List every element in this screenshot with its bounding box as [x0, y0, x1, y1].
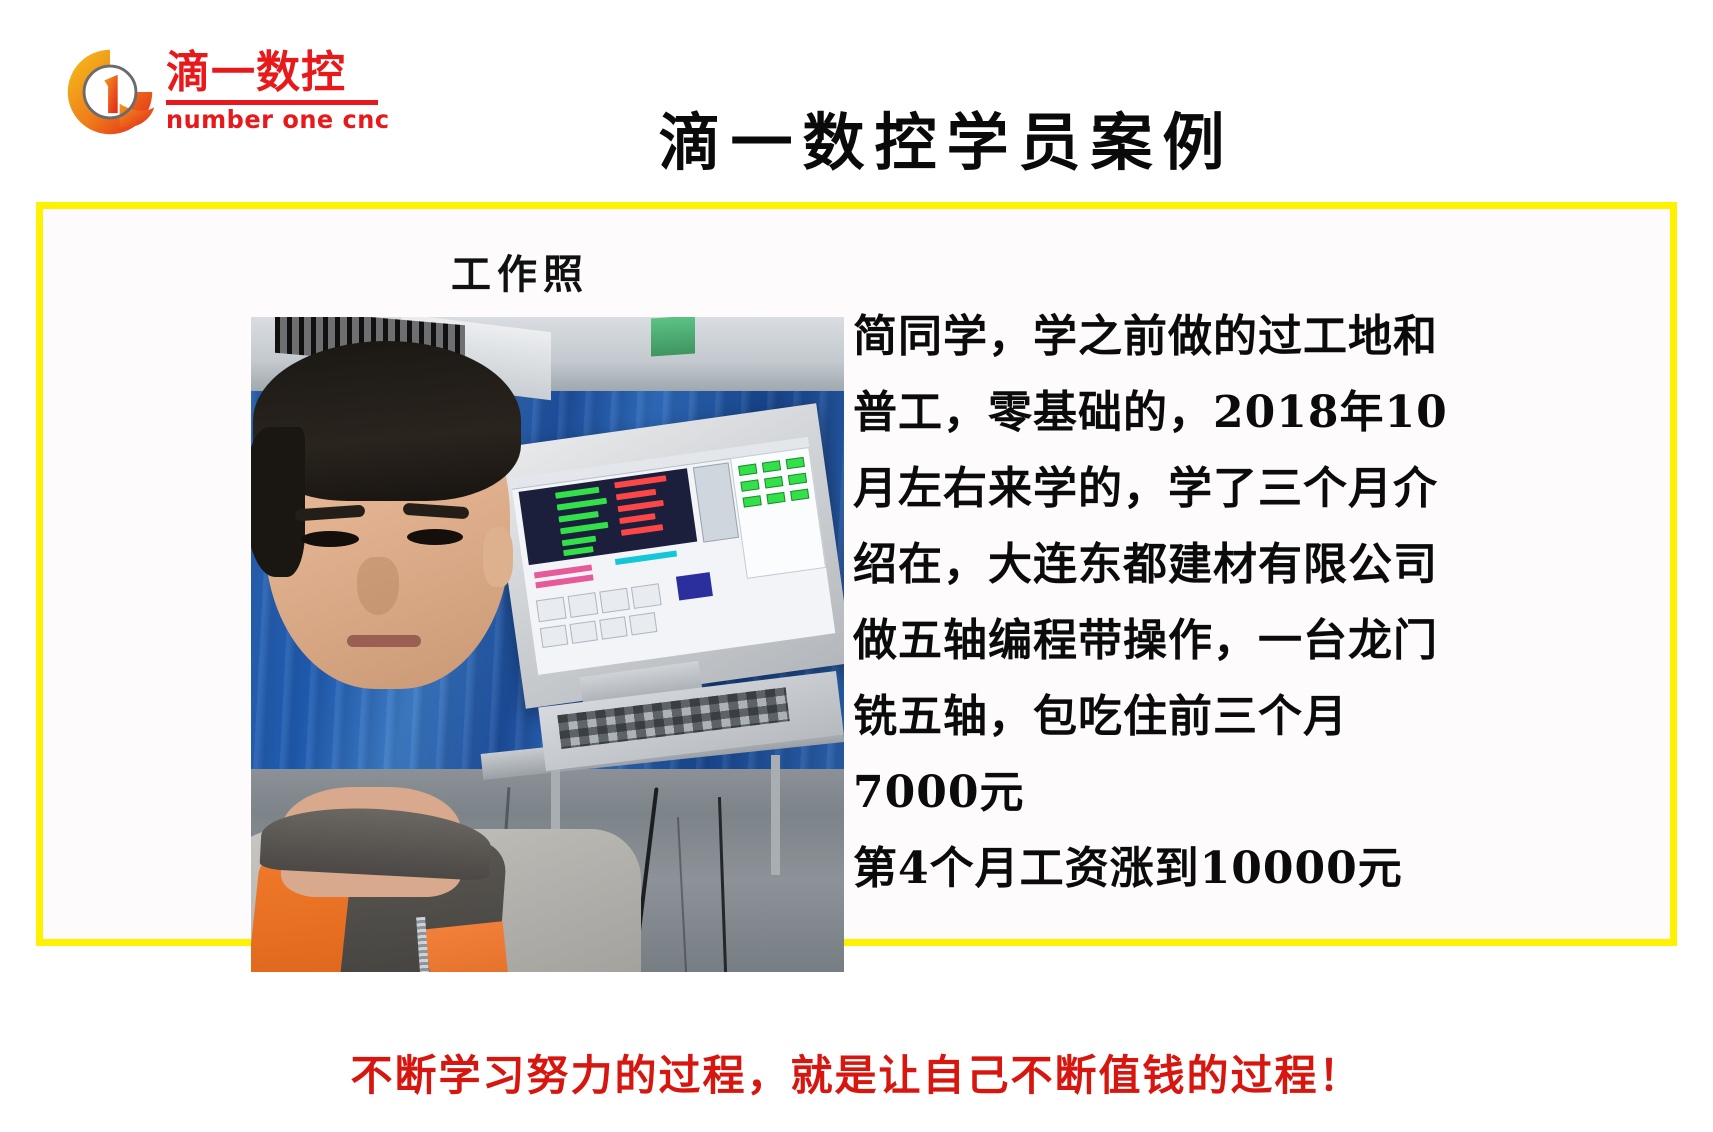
student-story-text: 简同学，学之前做的过工地和 普工，零基础的，2018年10 月左右来学的，学了三… [853, 299, 1653, 907]
photo-screen-button-3 [599, 588, 630, 614]
photo-screen-button-5 [540, 625, 569, 648]
photo-screen-status-grid [730, 447, 826, 579]
photo-screen-button-6 [569, 620, 598, 643]
photo-screen-button-1 [536, 597, 567, 623]
photo-jacket-orange-panel-right [425, 921, 515, 972]
photo-person-mouth [347, 635, 421, 647]
story-line: 简同学，学之前做的过工地和 [853, 299, 1653, 375]
page-title: 滴一数控学员案例 [0, 108, 1713, 178]
story-line: 绍在，大连东都建材有限公司 [853, 527, 1653, 603]
story-line: 普工，零基础的，2018年10 [853, 375, 1653, 451]
photo-person-eye-right [407, 529, 463, 545]
photo-person-nose [357, 557, 399, 615]
content-frame: 工作照 [36, 202, 1677, 946]
story-line: 铣五轴，包吃住前三个月 [853, 679, 1653, 755]
photo-person-eye-left [301, 531, 359, 547]
photo-screen-button-7 [599, 616, 628, 639]
photo-person-hair-side [251, 427, 305, 577]
photo-screen-button-8 [629, 612, 658, 635]
photo-cnc-monitor-screen [511, 437, 836, 675]
story-line: 7000元 [853, 755, 1653, 831]
photo-person-ear [483, 527, 513, 587]
photo-screen-blue-button [676, 572, 713, 600]
photo-screen-bar-3 [615, 550, 677, 565]
work-photo-label: 工作照 [451, 251, 589, 299]
photo-table-leg-right [771, 755, 780, 875]
brand-name-chinese: 滴一数控 [166, 48, 378, 98]
story-line: 做五轴编程带操作，一台龙门 [853, 603, 1653, 679]
photo-screen-button-4 [631, 583, 662, 609]
story-line: 月左右来学的，学了三个月介 [853, 451, 1653, 527]
work-photo [251, 317, 844, 972]
photo-green-beam [651, 317, 695, 357]
page-header: 滴一数控 number one cnc 滴一数控学员案例 [0, 0, 1713, 200]
footer-slogan: 不断学习努力的过程，就是让自己不断值钱的过程！ [0, 1048, 1713, 1104]
story-line: 第4个月工资涨到10000元 [853, 831, 1653, 907]
photo-screen-button-2 [568, 592, 599, 618]
